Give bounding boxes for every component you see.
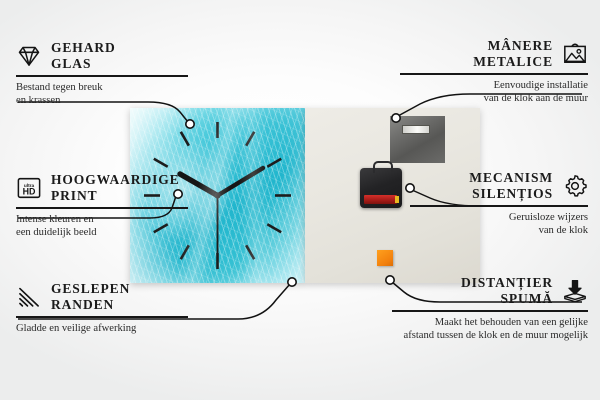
svg-text:HD: HD — [23, 186, 36, 196]
feature-handles-head: MÂNERE METALICE — [400, 38, 588, 69]
feature-print: ultra HD HOOGWAARDIGE PRINT Intense kleu… — [16, 172, 188, 240]
feature-edges-desc: Gladde en veilige afwerking — [16, 322, 188, 336]
press-down-pad-icon — [562, 278, 588, 304]
feature-mechanism-desc: Geruisloze wijzers van de klok — [410, 211, 588, 239]
metal-hanger — [390, 116, 445, 163]
feature-mechanism: MECANISM SILENȚIOS Geruisloze wijzers va… — [410, 170, 588, 238]
feature-edges-head: GESLEPEN RANDEN — [16, 281, 188, 312]
diamond-icon — [16, 43, 42, 69]
feature-edges-title: GESLEPEN RANDEN — [51, 281, 130, 312]
gear-icon — [562, 173, 588, 199]
feature-edges: GESLEPEN RANDEN Gladde en veilige afwerk… — [16, 281, 188, 335]
feature-handles-desc: Eenvoudige installatie van de klok aan d… — [400, 79, 588, 107]
feature-mechanism-title: MECANISM SILENȚIOS — [469, 170, 553, 201]
picture-frame-hanger-icon — [562, 41, 588, 67]
feature-spacer-head: DISTANȚIER SPUMĂ — [392, 275, 588, 306]
feature-spacer-rule — [392, 310, 588, 311]
feature-handles-title: MÂNERE METALICE — [473, 38, 553, 69]
feature-spacer: DISTANȚIER SPUMĂ Maakt het behouden van … — [392, 275, 588, 343]
ultra-hd-icon: ultra HD — [16, 175, 42, 201]
feature-glass-title: GEHARD GLAS — [51, 40, 116, 71]
feature-edges-rule — [16, 316, 188, 317]
beveled-edges-icon — [16, 284, 42, 310]
feature-mechanism-rule — [410, 205, 588, 206]
clock-mechanism — [360, 168, 402, 208]
feature-glass-rule — [16, 75, 188, 76]
battery — [364, 195, 397, 204]
foam-spacer — [377, 250, 393, 266]
feature-print-title: HOOGWAARDIGE PRINT — [51, 172, 180, 203]
feature-print-desc: Intense kleuren en een duidelijk beeld — [16, 213, 188, 241]
feature-print-head: ultra HD HOOGWAARDIGE PRINT — [16, 172, 188, 203]
feature-spacer-desc: Maakt het behouden van een gelijke afsta… — [392, 316, 588, 344]
feature-print-rule — [16, 207, 188, 208]
feature-glass-desc: Bestand tegen breuk en krassen — [16, 81, 188, 109]
feature-handles: MÂNERE METALICE Eenvoudige installatie v… — [400, 38, 588, 106]
infographic-canvas: GEHARD GLAS Bestand tegen breuk en krass… — [0, 0, 600, 400]
feature-glass-head: GEHARD GLAS — [16, 40, 188, 71]
feature-glass: GEHARD GLAS Bestand tegen breuk en krass… — [16, 40, 188, 108]
hanger-slot — [402, 125, 430, 134]
mechanism-hook — [373, 161, 393, 173]
feature-mechanism-head: MECANISM SILENȚIOS — [410, 170, 588, 201]
feature-spacer-title: DISTANȚIER SPUMĂ — [461, 275, 553, 306]
feature-handles-rule — [400, 73, 588, 74]
battery-terminal — [395, 196, 399, 203]
